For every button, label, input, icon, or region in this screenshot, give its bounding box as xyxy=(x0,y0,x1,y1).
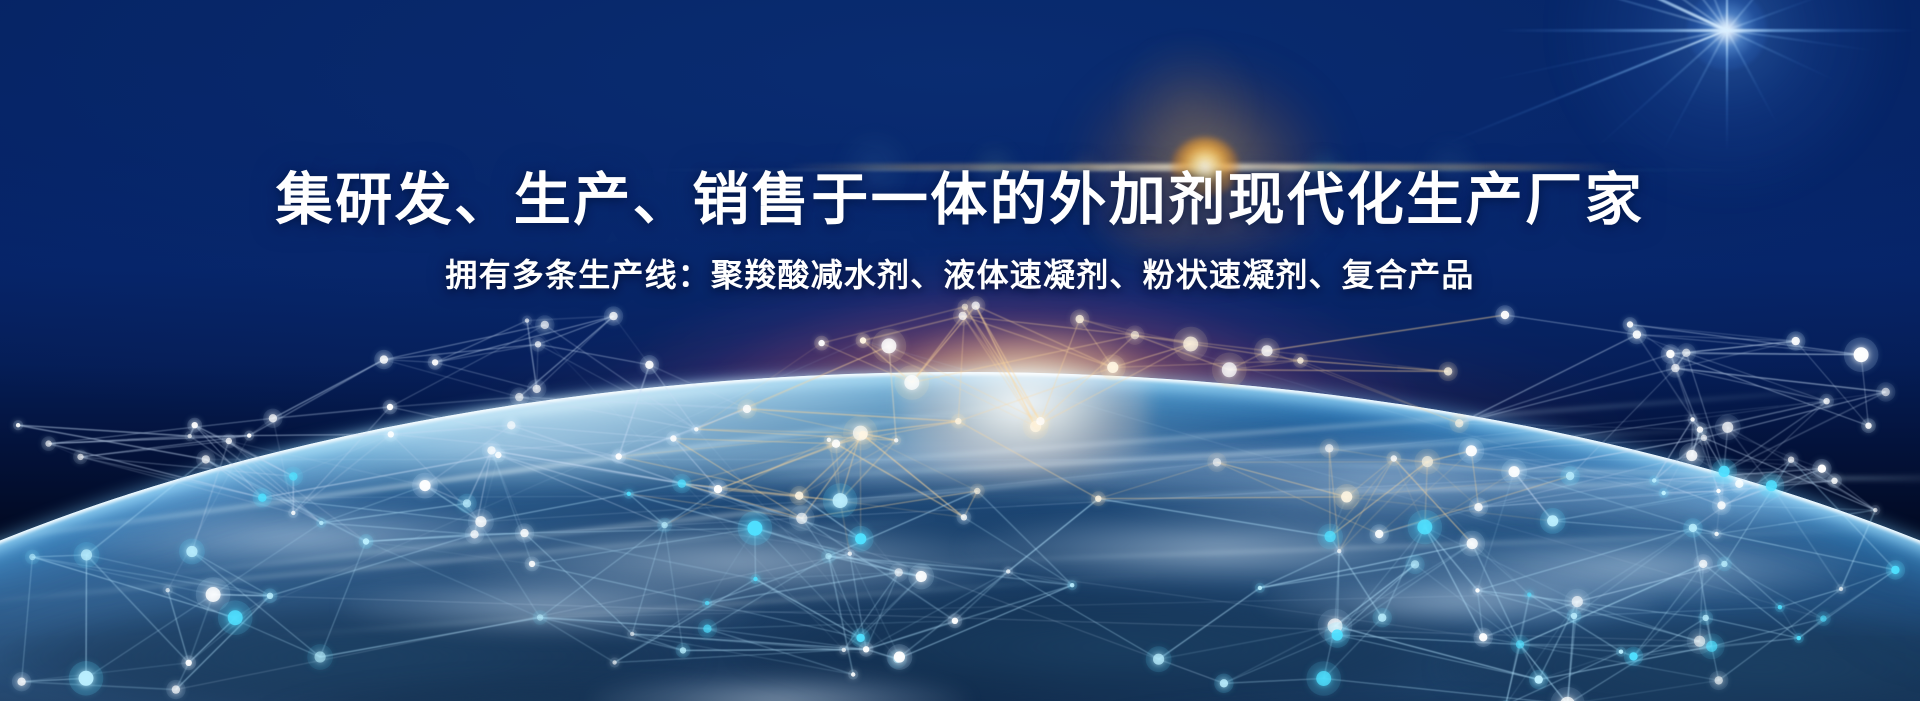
earth-cloud xyxy=(1260,572,1660,628)
lens-flare-ghost xyxy=(1112,30,1262,180)
earth-cloud xyxy=(340,577,760,635)
hero-banner: 集研发、生产、销售于一体的外加剂现代化生产厂家 拥有多条生产线：聚羧酸减水剂、液… xyxy=(0,0,1920,701)
page-subtitle: 拥有多条生产线：聚羧酸减水剂、液体速凝剂、粉状速凝剂、复合产品 xyxy=(0,256,1920,294)
page-title: 集研发、生产、销售于一体的外加剂现代化生产厂家 xyxy=(0,168,1920,234)
banner-copy: 集研发、生产、销售于一体的外加剂现代化生产厂家 拥有多条生产线：聚羧酸减水剂、液… xyxy=(0,168,1920,294)
sunrise-hot-core xyxy=(900,330,1150,480)
